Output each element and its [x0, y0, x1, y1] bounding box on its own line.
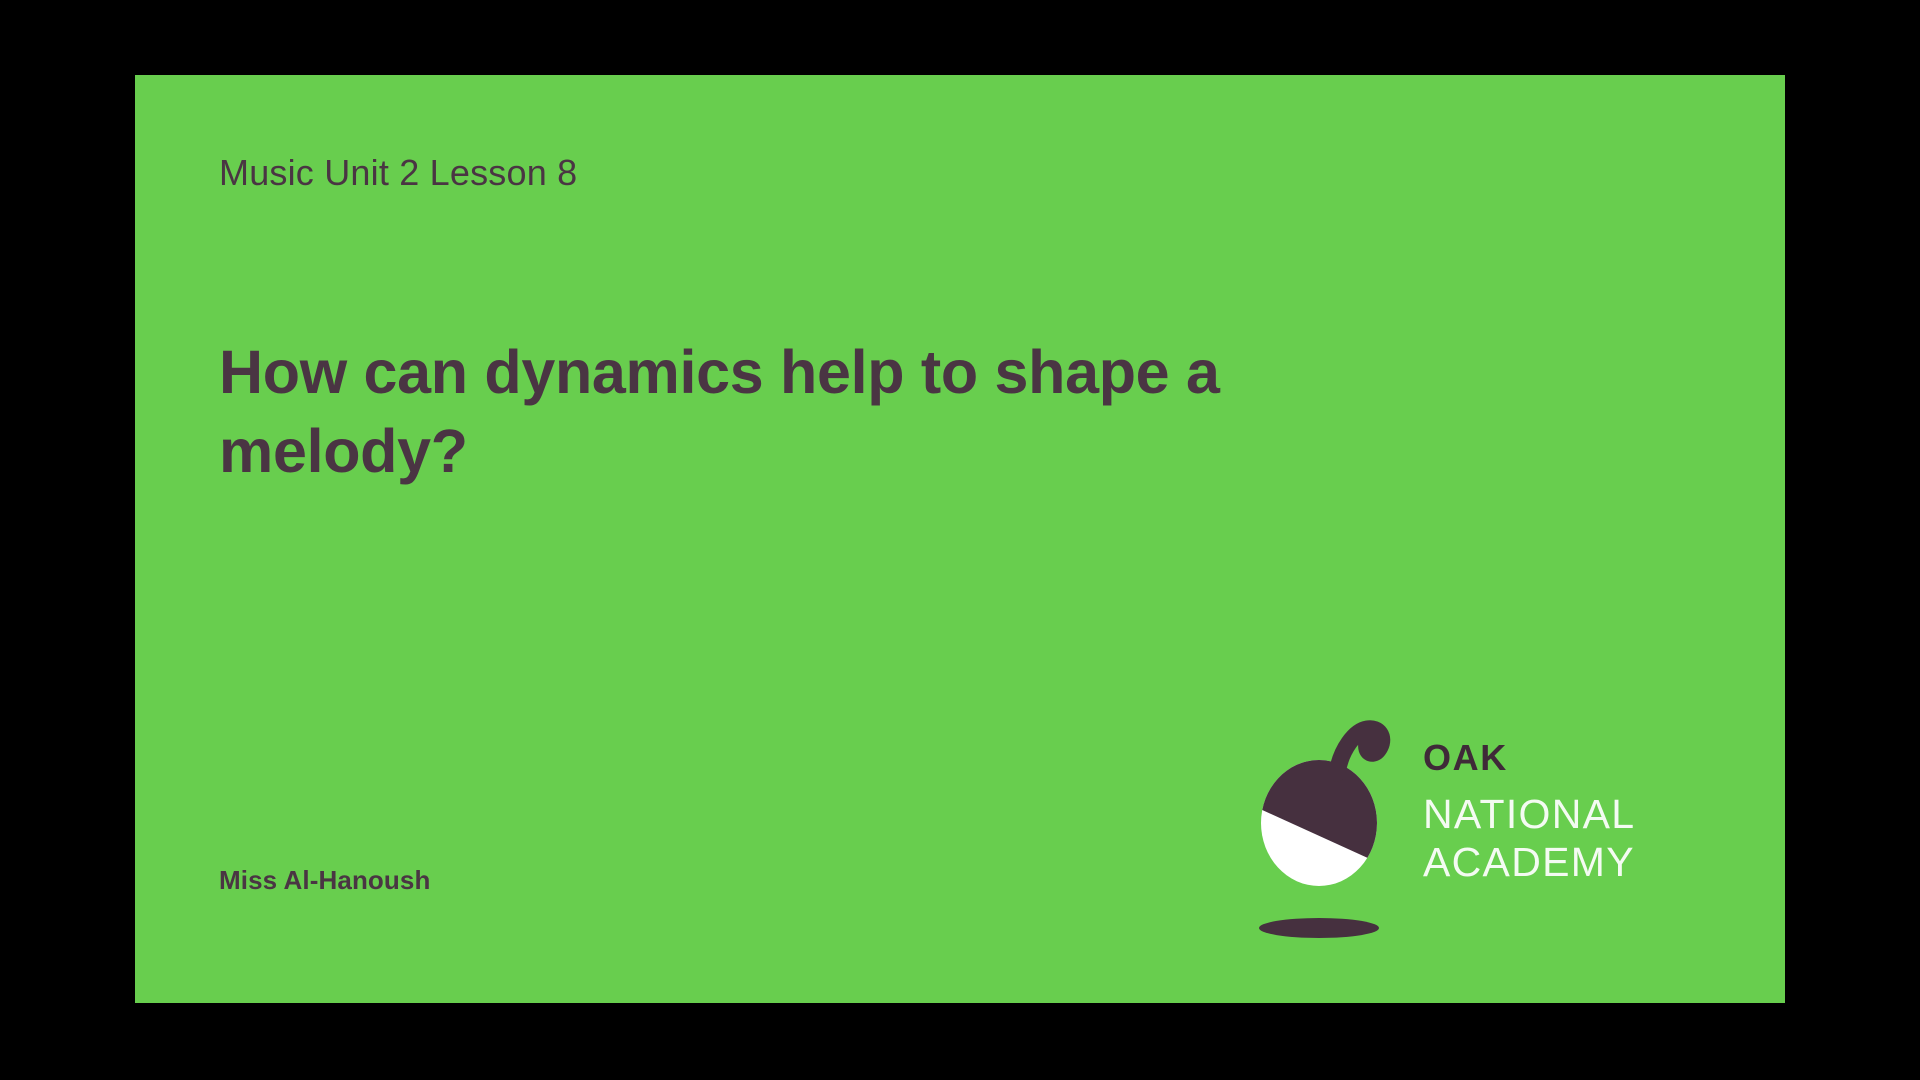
logo-wordmark: OAK NATIONAL ACADEMY [1423, 740, 1713, 887]
page-title-line-1: How can dynamics help to shape a [219, 333, 1519, 412]
logo-word-national: NATIONAL [1423, 790, 1713, 838]
acorn-icon [1245, 715, 1405, 955]
oak-national-academy-logo: OAK NATIONAL ACADEMY [1245, 715, 1715, 955]
page-title-line-2: melody? [219, 412, 1519, 491]
teacher-name-label: Miss Al-Hanoush [219, 865, 430, 896]
logo-word-oak: OAK [1423, 740, 1713, 776]
page-title: How can dynamics help to shape a melody? [219, 333, 1519, 492]
lesson-meta-label: Music Unit 2 Lesson 8 [219, 152, 577, 194]
logo-word-academy: ACADEMY [1423, 838, 1713, 886]
slide-canvas: Music Unit 2 Lesson 8 How can dynamics h… [0, 0, 1920, 1080]
lesson-title-slide: Music Unit 2 Lesson 8 How can dynamics h… [135, 75, 1785, 1003]
